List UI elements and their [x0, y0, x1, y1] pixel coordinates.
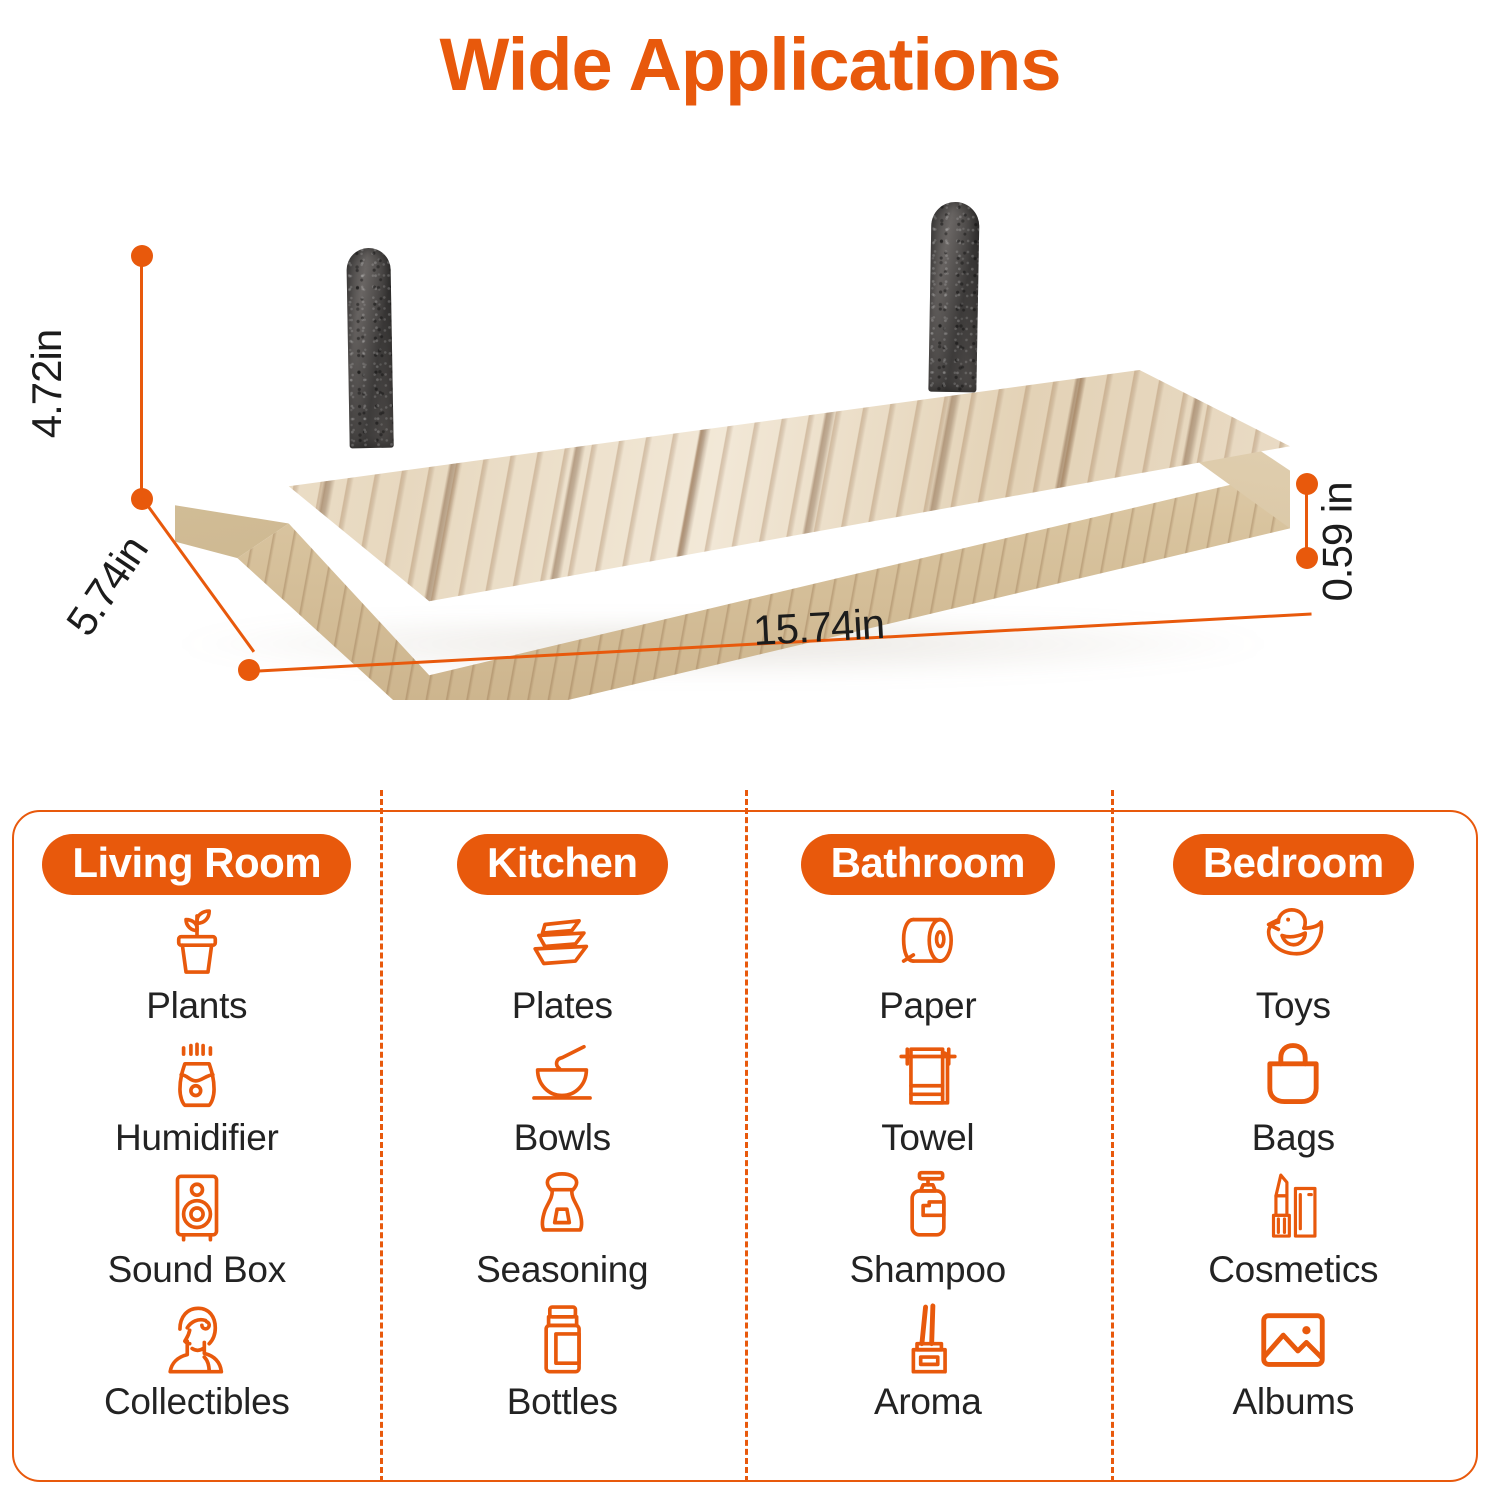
- application-item: Towel: [881, 1037, 974, 1159]
- dim-label-height: 4.72in: [23, 330, 71, 438]
- reed-diffuser-icon: [889, 1301, 967, 1379]
- potted-plant-icon: [158, 905, 236, 983]
- bust-statue-icon: [158, 1301, 236, 1379]
- towel-rack-icon: [889, 1037, 967, 1115]
- column-header-bedroom: Bedroom: [1173, 834, 1414, 895]
- mounting-bracket-right: [928, 202, 979, 393]
- application-column-living-room: Living Room Plants Humidifier: [14, 812, 380, 1480]
- product-hero-image: 4.72in 5.74in 15.74in 0.59 in: [0, 150, 1500, 800]
- application-item: Paper: [879, 905, 976, 1027]
- application-item: Humidifier: [115, 1037, 279, 1159]
- application-label: Paper: [879, 985, 976, 1027]
- application-item: Cosmetics: [1208, 1169, 1378, 1291]
- application-label: Humidifier: [115, 1117, 279, 1159]
- applications-panel: Living Room Plants Humidifier: [12, 810, 1478, 1482]
- application-column-bathroom: Bathroom Paper Towel: [745, 812, 1111, 1480]
- application-label: Albums: [1232, 1381, 1354, 1423]
- application-label: Sound Box: [108, 1249, 286, 1291]
- dim-line-thickness: [1305, 484, 1308, 552]
- application-item: Aroma: [874, 1301, 981, 1423]
- application-label: Bottles: [507, 1381, 618, 1423]
- dim-line-height: [140, 256, 143, 499]
- application-item: Seasoning: [476, 1169, 648, 1291]
- pump-bottle-icon: [889, 1169, 967, 1247]
- application-label: Plates: [512, 985, 613, 1027]
- application-label: Bags: [1252, 1117, 1335, 1159]
- handbag-icon: [1254, 1037, 1332, 1115]
- application-item: Sound Box: [108, 1169, 286, 1291]
- application-item: Bags: [1252, 1037, 1335, 1159]
- application-item: Bottles: [507, 1301, 618, 1423]
- dim-label-thickness: 0.59 in: [1314, 482, 1362, 601]
- application-label: Toys: [1256, 985, 1331, 1027]
- shelf-product: [0, 150, 1500, 800]
- application-label: Bowls: [514, 1117, 611, 1159]
- dim-label-width: 15.74in: [752, 600, 885, 655]
- application-item: Bowls: [514, 1037, 611, 1159]
- application-column-bedroom: Bedroom Toys Bags: [1111, 812, 1477, 1480]
- bowl-with-spoon-icon: [523, 1037, 601, 1115]
- application-item: Toys: [1254, 905, 1332, 1027]
- lipstick-icon: [1254, 1169, 1332, 1247]
- toilet-paper-roll-icon: [889, 905, 967, 983]
- page-title: Wide Applications: [0, 26, 1500, 104]
- speaker-icon: [158, 1169, 236, 1247]
- application-label: Cosmetics: [1208, 1249, 1378, 1291]
- application-item: Albums: [1232, 1301, 1354, 1423]
- application-label: Shampoo: [850, 1249, 1006, 1291]
- humidifier-icon: [158, 1037, 236, 1115]
- mounting-bracket-left: [346, 248, 393, 449]
- stacked-plates-icon: [523, 905, 601, 983]
- column-header-kitchen: Kitchen: [457, 834, 668, 895]
- application-item: Plates: [512, 905, 613, 1027]
- seasoning-shaker-icon: [523, 1169, 601, 1247]
- rubber-duck-icon: [1254, 905, 1332, 983]
- application-label: Collectibles: [104, 1381, 290, 1423]
- photo-frame-icon: [1254, 1301, 1332, 1379]
- application-label: Seasoning: [476, 1249, 648, 1291]
- application-item: Collectibles: [104, 1301, 290, 1423]
- application-column-kitchen: Kitchen Plates Bowls S: [380, 812, 746, 1480]
- column-header-bathroom: Bathroom: [801, 834, 1055, 895]
- application-label: Plants: [146, 985, 247, 1027]
- application-item: Shampoo: [850, 1169, 1006, 1291]
- application-label: Aroma: [874, 1381, 981, 1423]
- column-header-living-room: Living Room: [42, 834, 351, 895]
- glass-jar-icon: [523, 1301, 601, 1379]
- application-label: Towel: [881, 1117, 974, 1159]
- application-item: Plants: [146, 905, 247, 1027]
